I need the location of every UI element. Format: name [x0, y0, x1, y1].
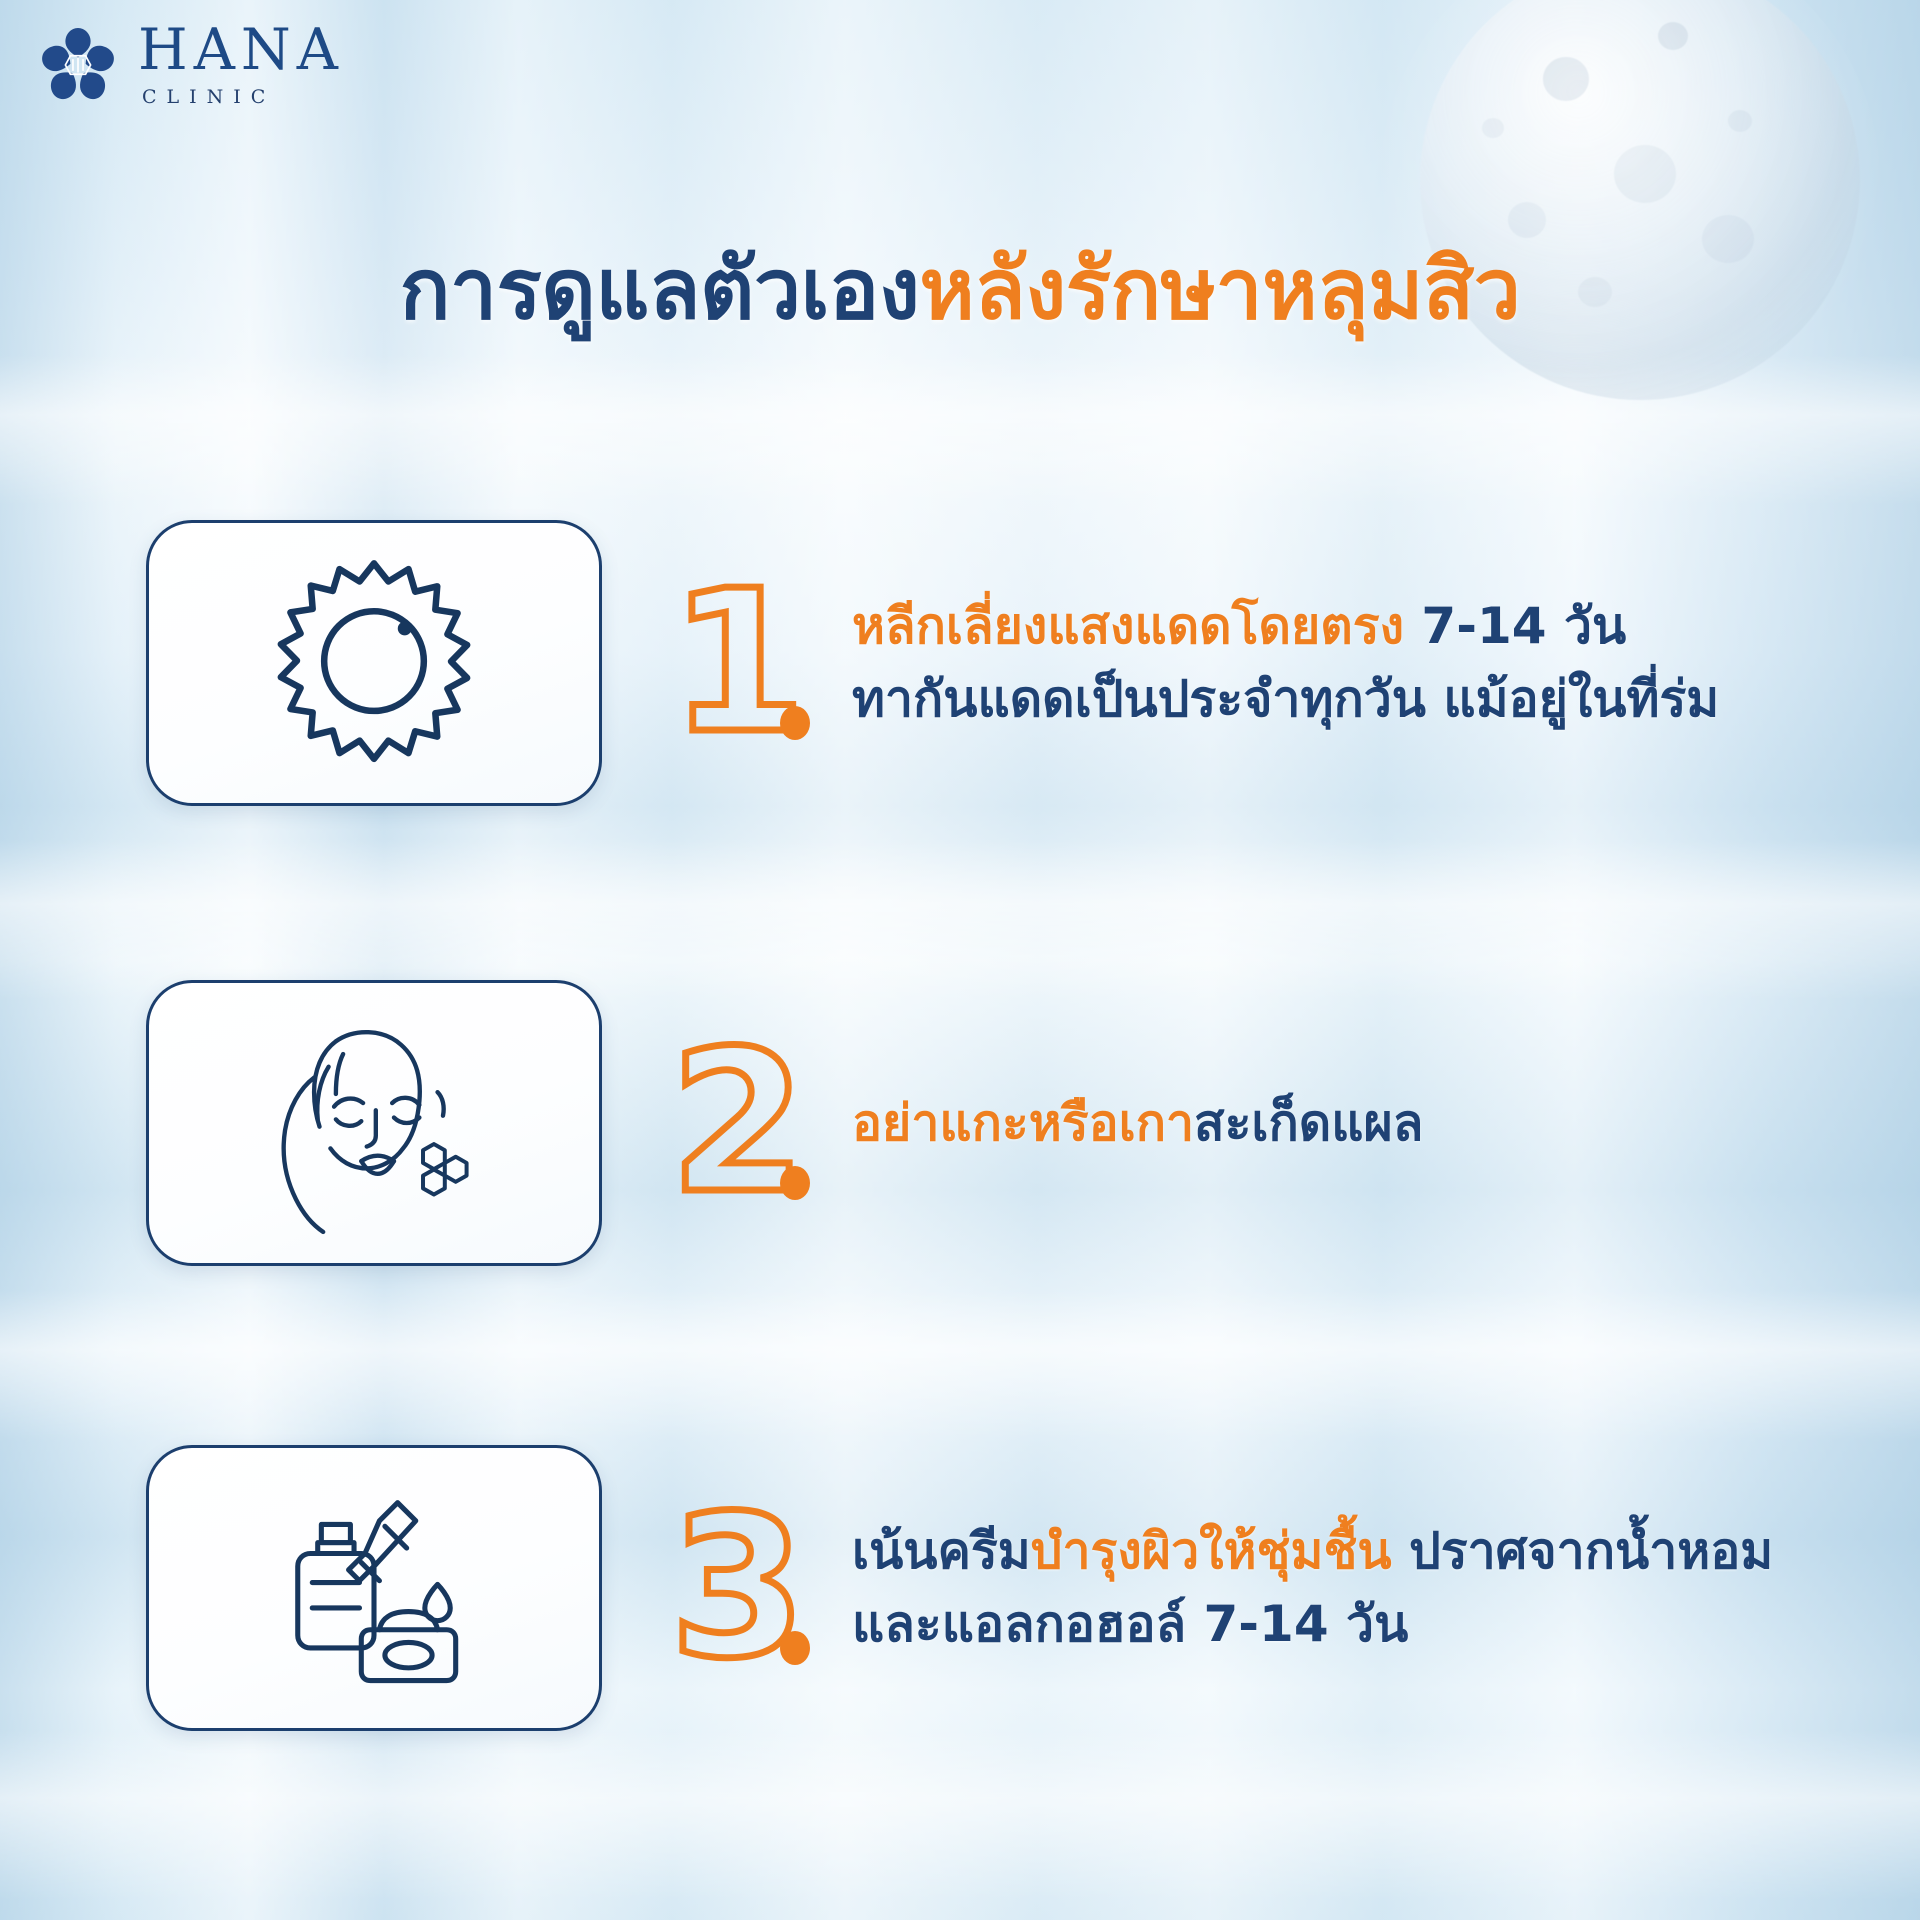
- step-text-line: อย่าแกะหรือเกาสะเก็ดแผล: [852, 1087, 1850, 1160]
- woman-face-icon: [256, 1005, 492, 1241]
- list-item: 2 อย่าแกะหรือเกาสะเก็ดแผล: [0, 980, 1920, 1266]
- infographic-canvas: HANA CLINIC การดูแลตัวเองหลังรักษาหลุมสิ…: [0, 0, 1920, 1920]
- step-text-2: อย่าแกะหรือเกาสะเก็ดแผล: [852, 1087, 1920, 1160]
- brand-logo: HANA CLINIC: [36, 22, 344, 108]
- step-text-segment: หลีกเลี่ยงแสงแดดโดยตรง: [852, 597, 1421, 655]
- step-text-3: เน้นครีมบำรุงผิวให้ชุ่มชื้น ปราศจากน้ำหอ…: [852, 1515, 1920, 1661]
- step-text-line: เน้นครีมบำรุงผิวให้ชุ่มชื้น ปราศจากน้ำหอ…: [852, 1515, 1850, 1588]
- step-text-segment: และแอลกอฮอล์ 7-14 วัน: [852, 1595, 1408, 1653]
- step-text-1: หลีกเลี่ยงแสงแดดโดยตรง 7-14 วัน ทากันแดด…: [852, 590, 1920, 736]
- step-number-2: 2: [648, 1040, 828, 1207]
- step-text-segment: สะเก็ดแผล: [1194, 1094, 1423, 1152]
- icon-card-3: [146, 1445, 602, 1731]
- step-text-segment: อย่าแกะหรือเกา: [852, 1094, 1194, 1152]
- step-number-1: 1: [648, 580, 828, 747]
- sun-icon: [259, 548, 489, 778]
- step-text-segment: ปราศจากน้ำหอม: [1392, 1522, 1774, 1580]
- serum-dropper-cream-icon: [256, 1470, 492, 1706]
- title-part-primary: การดูแลตัวเอง: [400, 240, 920, 338]
- sakura-flower-logo-icon: [36, 23, 120, 107]
- icon-card-1: [146, 520, 602, 806]
- page-title: การดูแลตัวเองหลังรักษาหลุมสิว: [0, 242, 1920, 336]
- title-part-accent: หลังรักษาหลุมสิว: [919, 240, 1520, 338]
- step-text-segment: บำรุงผิวให้ชุ่มชื้น: [1031, 1522, 1392, 1580]
- step-text-segment: เน้นครีม: [852, 1522, 1031, 1580]
- step-text-segment: 7-14 วัน: [1421, 597, 1626, 655]
- brand-subtitle: CLINIC: [142, 86, 344, 108]
- step-text-line: หลีกเลี่ยงแสงแดดโดยตรง 7-14 วัน: [852, 590, 1850, 663]
- step-text-line: และแอลกอฮอล์ 7-14 วัน: [852, 1588, 1850, 1661]
- icon-card-2: [146, 980, 602, 1266]
- list-item: 3 เน้นครีมบำรุงผิวให้ชุ่มชื้น ปราศจากน้ำ…: [0, 1445, 1920, 1731]
- step-text-segment: ทากันแดดเป็นประจำทุกวัน แม้อยู่ในที่ร่ม: [852, 670, 1719, 728]
- step-number-3: 3: [648, 1505, 828, 1672]
- step-text-line: ทากันแดดเป็นประจำทุกวัน แม้อยู่ในที่ร่ม: [852, 663, 1850, 736]
- brand-name: HANA: [138, 22, 344, 79]
- list-item: 1 หลีกเลี่ยงแสงแดดโดยตรง 7-14 วัน ทากันแ…: [0, 520, 1920, 806]
